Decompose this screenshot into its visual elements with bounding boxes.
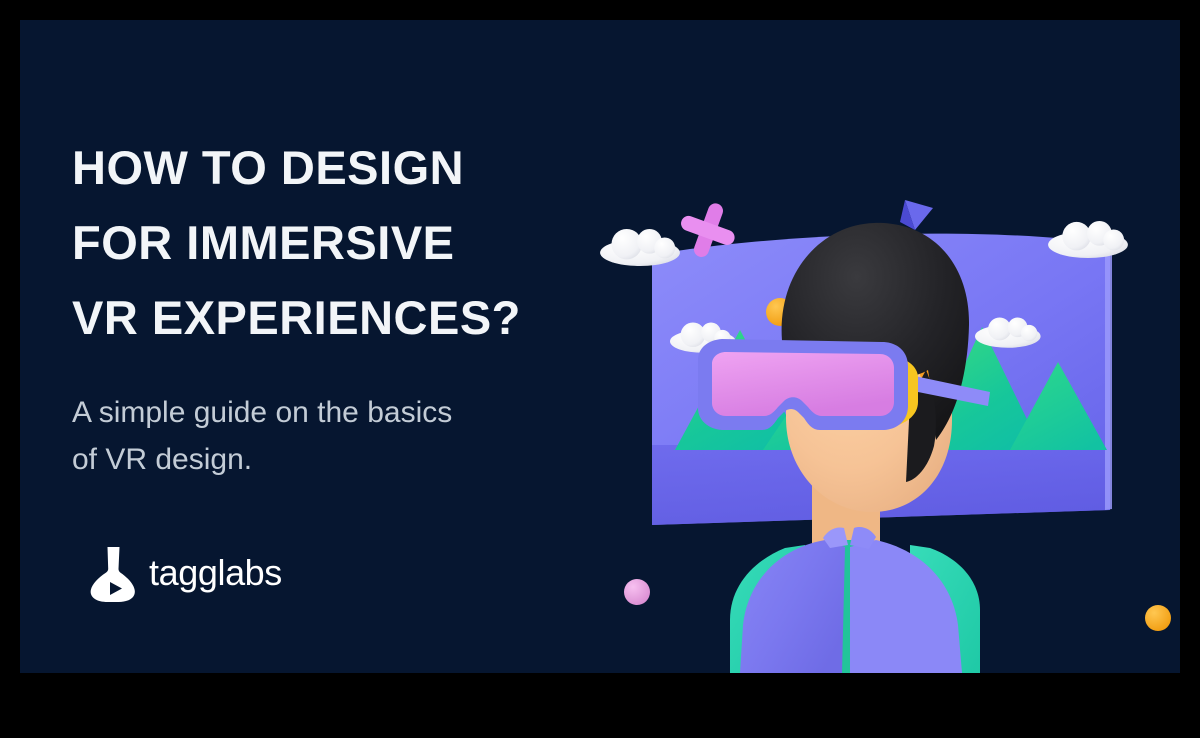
brand-logo[interactable]: tagglabs [88, 545, 282, 603]
pink-sphere-outer [624, 579, 650, 605]
slide-canvas: HOW TO DESIGN FOR IMMERSIVE VR EXPERIENC… [0, 0, 1200, 738]
page-title: HOW TO DESIGN FOR IMMERSIVE VR EXPERIENC… [72, 130, 592, 355]
text-block: HOW TO DESIGN FOR IMMERSIVE VR EXPERIENC… [72, 130, 592, 483]
character-torso [730, 527, 980, 673]
cloud-top-right [1048, 221, 1128, 258]
orange-sphere-outer [1145, 605, 1171, 631]
flask-play-icon [88, 545, 140, 603]
jacket-left [740, 540, 845, 673]
cloud-top-left [600, 229, 680, 266]
vr-illustration [580, 20, 1180, 673]
slide-card: HOW TO DESIGN FOR IMMERSIVE VR EXPERIENC… [20, 20, 1180, 673]
logo-wordmark: tagglabs [149, 555, 282, 594]
blue-pyramid-shape [900, 200, 933, 230]
page-subtitle: A simple guide on the basics of VR desig… [72, 389, 592, 483]
